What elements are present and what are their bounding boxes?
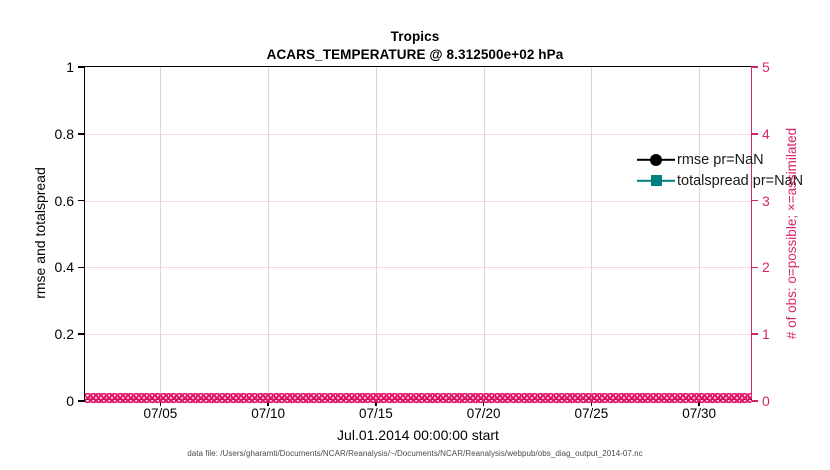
y-tick-label-left: 0.2 [55,326,74,342]
obs-possible-marker-icon [426,392,439,405]
obs-assimilated-marker-icon [458,392,471,405]
obs-possible-marker-icon [248,392,261,405]
obs-assimilated-marker-icon [647,392,660,405]
obs-assimilated-marker-icon [275,392,288,405]
obs-possible-marker-icon [243,392,256,405]
chart-subtitle: ACARS_TEMPERATURE @ 8.312500e+02 hPa [0,45,830,64]
obs-possible-marker-icon [496,392,509,405]
obs-assimilated-marker-icon [383,392,396,405]
x-tick-label: 07/05 [144,406,178,421]
obs-assimilated-marker-icon [248,392,261,405]
y-tick-label-right: 3 [762,193,770,209]
obs-assimilated-marker-icon [92,392,105,405]
y-tick-label-right: 1 [762,326,770,342]
obs-possible-marker-icon [345,392,358,405]
obs-possible-marker-icon [679,392,692,405]
obs-possible-marker-icon [340,392,353,405]
x-tick [483,399,484,406]
obs-assimilated-marker-icon [318,392,331,405]
obs-assimilated-marker-icon [151,392,164,405]
obs-assimilated-marker-icon [620,392,633,405]
x-tick [698,399,699,406]
obs-possible-marker-icon [85,392,94,405]
obs-possible-marker-icon [555,392,568,405]
obs-possible-marker-icon [647,392,660,405]
obs-assimilated-marker-icon [114,392,127,405]
x-tick-label: 07/30 [682,406,716,421]
obs-assimilated-marker-icon [658,392,671,405]
y-tick-left [78,66,85,68]
obs-possible-marker-icon [318,392,331,405]
gridline-horizontal [85,267,751,268]
obs-assimilated-marker-icon [415,392,428,405]
obs-possible-marker-icon [291,392,304,405]
obs-possible-marker-icon [232,392,245,405]
obs-possible-marker-icon [609,392,622,405]
y-axis-label-left: rmse and totalspread [30,66,50,400]
obs-possible-marker-icon [334,392,347,405]
obs-assimilated-marker-icon [108,392,121,405]
obs-possible-marker-icon [550,392,563,405]
obs-possible-marker-icon [485,392,498,405]
obs-assimilated-marker-icon [426,392,439,405]
obs-possible-marker-icon [566,392,579,405]
obs-possible-marker-icon [216,392,229,405]
y-tick-label-left: 0.4 [55,259,74,275]
obs-assimilated-marker-icon [227,392,240,405]
obs-assimilated-marker-icon [480,392,493,405]
obs-assimilated-marker-icon [679,392,692,405]
obs-assimilated-marker-icon [631,392,644,405]
obs-possible-marker-icon [151,392,164,405]
obs-assimilated-marker-icon [97,392,110,405]
obs-possible-marker-icon [448,392,461,405]
obs-marker-band [85,392,751,407]
obs-possible-marker-icon [124,392,137,405]
obs-possible-marker-icon [103,392,116,405]
obs-assimilated-marker-icon [216,392,229,405]
obs-possible-marker-icon [307,392,320,405]
y-axis-label-right: # of obs: o=possible; ×=assimilated [782,66,802,400]
obs-possible-marker-icon [302,392,315,405]
plot-area: 00.20.40.60.8101234507/0507/1007/1507/20… [84,66,752,400]
obs-possible-marker-icon [728,392,741,405]
y-tick-right [751,267,758,269]
obs-assimilated-marker-icon [674,392,687,405]
y-tick-label-left: 0.6 [55,193,74,209]
obs-assimilated-marker-icon [722,392,735,405]
obs-assimilated-marker-icon [372,392,385,405]
obs-possible-marker-icon [254,392,267,405]
gridline-horizontal [85,334,751,335]
obs-possible-marker-icon [388,392,401,405]
y-tick-right [751,333,758,335]
y-tick-right [751,200,758,202]
obs-assimilated-marker-icon [507,392,520,405]
y-tick-right [751,400,758,402]
obs-assimilated-marker-icon [685,392,698,405]
obs-assimilated-marker-icon [361,392,374,405]
obs-possible-marker-icon [652,392,665,405]
obs-assimilated-marker-icon [609,392,622,405]
obs-possible-marker-icon [135,392,148,405]
obs-assimilated-marker-icon [178,392,191,405]
obs-possible-marker-icon [130,392,143,405]
obs-assimilated-marker-icon [555,392,568,405]
y-tick-label-right: 2 [762,259,770,275]
obs-possible-marker-icon [674,392,687,405]
obs-possible-marker-icon [372,392,385,405]
obs-possible-marker-icon [97,392,110,405]
obs-possible-marker-icon [625,392,638,405]
obs-assimilated-marker-icon [87,392,100,405]
obs-assimilated-marker-icon [604,392,617,405]
obs-possible-marker-icon [87,392,100,405]
obs-possible-marker-icon [685,392,698,405]
obs-possible-marker-icon [620,392,633,405]
obs-assimilated-marker-icon [286,392,299,405]
obs-possible-marker-icon [286,392,299,405]
obs-possible-marker-icon [663,392,676,405]
obs-possible-marker-icon [593,392,606,405]
obs-assimilated-marker-icon [550,392,563,405]
obs-possible-marker-icon [184,392,197,405]
obs-assimilated-marker-icon [243,392,256,405]
obs-possible-marker-icon [458,392,471,405]
y-tick-right [751,66,758,68]
y-axis-label-right-text: # of obs: o=possible; ×=assimilated [785,127,800,338]
obs-possible-marker-icon [394,392,407,405]
legend-label-rmse: rmse pr=NaN [675,152,764,168]
obs-assimilated-marker-icon [259,392,272,405]
obs-assimilated-marker-icon [652,392,665,405]
obs-possible-marker-icon [437,392,450,405]
y-tick-label-left: 1 [66,59,74,75]
obs-possible-marker-icon [383,392,396,405]
obs-assimilated-marker-icon [690,392,703,405]
obs-possible-marker-icon [189,392,202,405]
obs-assimilated-marker-icon [157,392,170,405]
obs-possible-marker-icon [146,392,159,405]
gridline-vertical [376,67,377,399]
obs-assimilated-marker-icon [334,392,347,405]
obs-possible-marker-icon [356,392,369,405]
obs-assimilated-marker-icon [184,392,197,405]
obs-assimilated-marker-icon [431,392,444,405]
obs-assimilated-marker-icon [173,392,186,405]
obs-assimilated-marker-icon [636,392,649,405]
obs-possible-marker-icon [399,392,412,405]
x-tick [267,399,268,406]
obs-assimilated-marker-icon [189,392,202,405]
obs-assimilated-marker-icon [528,392,541,405]
obs-assimilated-marker-icon [410,392,423,405]
obs-possible-marker-icon [351,392,364,405]
obs-possible-marker-icon [324,392,337,405]
obs-assimilated-marker-icon [329,392,342,405]
obs-possible-marker-icon [404,392,417,405]
gridline-vertical [699,67,700,399]
obs-assimilated-marker-icon [566,392,579,405]
obs-possible-marker-icon [722,392,735,405]
obs-possible-marker-icon [297,392,310,405]
obs-assimilated-marker-icon [442,392,455,405]
legend-item-totalspread[interactable]: totalspread pr=NaN [637,170,803,191]
obs-possible-marker-icon [701,392,714,405]
obs-possible-marker-icon [194,392,207,405]
obs-assimilated-marker-icon [711,392,724,405]
obs-possible-marker-icon [501,392,514,405]
obs-assimilated-marker-icon [544,392,557,405]
legend-item-rmse[interactable]: rmse pr=NaN [637,149,803,170]
obs-possible-marker-icon [690,392,703,405]
obs-possible-marker-icon [92,392,105,405]
legend-swatch-rmse [637,151,675,169]
obs-assimilated-marker-icon [167,392,180,405]
obs-assimilated-marker-icon [140,392,153,405]
obs-assimilated-marker-icon [437,392,450,405]
x-tick-label: 07/10 [251,406,285,421]
y-tick-left [78,133,85,135]
obs-possible-marker-icon [706,392,719,405]
x-tick [160,399,161,406]
obs-assimilated-marker-icon [534,392,547,405]
y-axis-label-left-text: rmse and totalspread [32,167,48,299]
x-axis-label: Jul.01.2014 00:00:00 start [84,427,752,443]
obs-assimilated-marker-icon [307,392,320,405]
obs-assimilated-marker-icon [281,392,294,405]
obs-possible-marker-icon [421,392,434,405]
obs-assimilated-marker-icon [345,392,358,405]
obs-possible-marker-icon [140,392,153,405]
obs-assimilated-marker-icon [324,392,337,405]
obs-assimilated-marker-icon [200,392,213,405]
obs-assimilated-marker-icon [717,392,730,405]
obs-assimilated-marker-icon [394,392,407,405]
obs-assimilated-marker-icon [388,392,401,405]
obs-possible-marker-icon [162,392,175,405]
obs-possible-marker-icon [431,392,444,405]
obs-assimilated-marker-icon [474,392,487,405]
obs-possible-marker-icon [237,392,250,405]
obs-possible-marker-icon [571,392,584,405]
obs-assimilated-marker-icon [210,392,223,405]
obs-possible-marker-icon [480,392,493,405]
obs-assimilated-marker-icon [738,392,751,405]
obs-possible-marker-icon [361,392,374,405]
obs-assimilated-marker-icon [641,392,654,405]
obs-possible-marker-icon [410,392,423,405]
obs-assimilated-marker-icon [162,392,175,405]
circle-marker-icon [650,154,662,166]
obs-assimilated-marker-icon [625,392,638,405]
obs-possible-marker-icon [523,392,536,405]
obs-possible-marker-icon [415,392,428,405]
obs-possible-marker-icon [711,392,724,405]
obs-assimilated-marker-icon [124,392,137,405]
obs-assimilated-marker-icon [523,392,536,405]
obs-possible-marker-icon [518,392,531,405]
obs-possible-marker-icon [507,392,520,405]
obs-possible-marker-icon [114,392,127,405]
obs-possible-marker-icon [658,392,671,405]
obs-possible-marker-icon [738,392,751,405]
chart-title-block: Tropics ACARS_TEMPERATURE @ 8.312500e+02… [0,28,830,64]
obs-possible-marker-icon [561,392,574,405]
obs-assimilated-marker-icon [254,392,267,405]
square-marker-icon [651,175,662,186]
obs-assimilated-marker-icon [313,392,326,405]
obs-possible-marker-icon [157,392,170,405]
obs-assimilated-marker-icon [588,392,601,405]
obs-possible-marker-icon [119,392,132,405]
y-tick-label-right: 5 [762,59,770,75]
y-tick-left [78,400,85,402]
obs-assimilated-marker-icon [501,392,514,405]
obs-assimilated-marker-icon [668,392,681,405]
obs-assimilated-marker-icon [728,392,741,405]
gridline-horizontal [85,201,751,202]
obs-possible-marker-icon [744,392,751,405]
data-file-note: data file: /Users/gharamti/Documents/NCA… [0,449,830,458]
obs-assimilated-marker-icon [205,392,218,405]
obs-possible-marker-icon [264,392,277,405]
obs-assimilated-marker-icon [130,392,143,405]
obs-assimilated-marker-icon [695,392,708,405]
page-title: Tropics [0,28,830,45]
obs-assimilated-marker-icon [356,392,369,405]
gridline-vertical [268,67,269,399]
obs-possible-marker-icon [313,392,326,405]
obs-possible-marker-icon [636,392,649,405]
obs-assimilated-marker-icon [367,392,380,405]
x-tick [375,399,376,406]
y-tick-label-left: 0.8 [55,126,74,142]
obs-possible-marker-icon [270,392,283,405]
obs-possible-marker-icon [200,392,213,405]
obs-possible-marker-icon [582,392,595,405]
obs-assimilated-marker-icon [593,392,606,405]
obs-assimilated-marker-icon [421,392,434,405]
obs-assimilated-marker-icon [464,392,477,405]
obs-assimilated-marker-icon [733,392,746,405]
obs-assimilated-marker-icon [146,392,159,405]
obs-possible-marker-icon [167,392,180,405]
obs-assimilated-marker-icon [706,392,719,405]
x-tick-label: 07/15 [359,406,393,421]
obs-assimilated-marker-icon [103,392,116,405]
y-tick-label-left: 0 [66,393,74,409]
legend-swatch-totalspread [637,172,675,190]
obs-possible-marker-icon [178,392,191,405]
obs-assimilated-marker-icon [221,392,234,405]
obs-assimilated-marker-icon [264,392,277,405]
obs-assimilated-marker-icon [561,392,574,405]
gridline-horizontal [85,134,751,135]
obs-assimilated-marker-icon [582,392,595,405]
gridline-vertical [484,67,485,399]
obs-assimilated-marker-icon [518,392,531,405]
obs-assimilated-marker-icon [135,392,148,405]
obs-assimilated-marker-icon [571,392,584,405]
obs-possible-marker-icon [227,392,240,405]
obs-possible-marker-icon [668,392,681,405]
obs-possible-marker-icon [534,392,547,405]
obs-possible-marker-icon [329,392,342,405]
gridline-vertical [591,67,592,399]
obs-possible-marker-icon [281,392,294,405]
obs-assimilated-marker-icon [404,392,417,405]
obs-possible-marker-icon [210,392,223,405]
y-tick-left [78,333,85,335]
obs-possible-marker-icon [528,392,541,405]
y-tick-label-right: 0 [762,393,770,409]
obs-assimilated-marker-icon [485,392,498,405]
obs-assimilated-marker-icon [351,392,364,405]
obs-assimilated-marker-icon [237,392,250,405]
obs-assimilated-marker-icon [270,392,283,405]
obs-assimilated-marker-icon [291,392,304,405]
obs-assimilated-marker-icon [701,392,714,405]
obs-assimilated-marker-icon [85,392,94,405]
obs-assimilated-marker-icon [194,392,207,405]
obs-assimilated-marker-icon [496,392,509,405]
obs-possible-marker-icon [539,392,552,405]
obs-possible-marker-icon [733,392,746,405]
obs-possible-marker-icon [442,392,455,405]
obs-possible-marker-icon [453,392,466,405]
obs-possible-marker-icon [173,392,186,405]
obs-assimilated-marker-icon [453,392,466,405]
obs-possible-marker-icon [469,392,482,405]
obs-possible-marker-icon [259,392,272,405]
obs-assimilated-marker-icon [448,392,461,405]
obs-possible-marker-icon [205,392,218,405]
obs-possible-marker-icon [577,392,590,405]
obs-assimilated-marker-icon [512,392,525,405]
obs-possible-marker-icon [275,392,288,405]
obs-assimilated-marker-icon [491,392,504,405]
x-tick-label: 07/20 [467,406,501,421]
obs-possible-marker-icon [491,392,504,405]
obs-assimilated-marker-icon [119,392,132,405]
obs-assimilated-marker-icon [598,392,611,405]
obs-possible-marker-icon [544,392,557,405]
obs-possible-marker-icon [464,392,477,405]
obs-possible-marker-icon [604,392,617,405]
obs-possible-marker-icon [221,392,234,405]
obs-assimilated-marker-icon [232,392,245,405]
obs-possible-marker-icon [367,392,380,405]
obs-assimilated-marker-icon [539,392,552,405]
obs-assimilated-marker-icon [340,392,353,405]
obs-possible-marker-icon [377,392,390,405]
obs-assimilated-marker-icon [302,392,315,405]
y-tick-label-right: 4 [762,126,770,142]
obs-possible-marker-icon [615,392,628,405]
y-tick-right [751,133,758,135]
obs-assimilated-marker-icon [297,392,310,405]
obs-possible-marker-icon [588,392,601,405]
obs-assimilated-marker-icon [399,392,412,405]
x-tick-label: 07/25 [574,406,608,421]
obs-possible-marker-icon [598,392,611,405]
y-tick-left [78,200,85,202]
obs-possible-marker-icon [717,392,730,405]
obs-possible-marker-icon [512,392,525,405]
obs-assimilated-marker-icon [663,392,676,405]
obs-assimilated-marker-icon [469,392,482,405]
